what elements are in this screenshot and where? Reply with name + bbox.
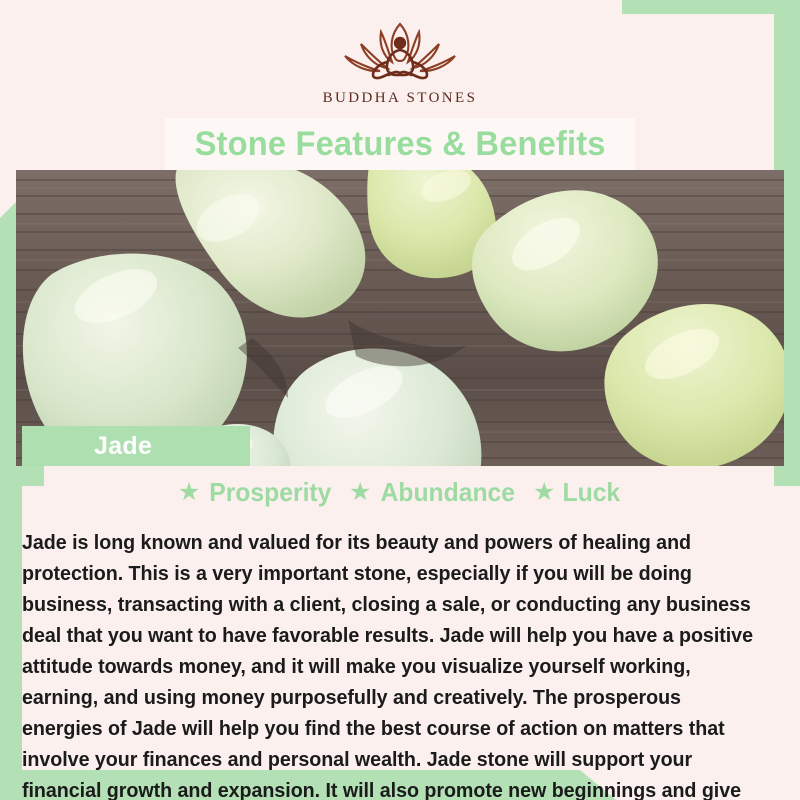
page-title: Stone Features & Benefits (194, 125, 605, 164)
benefit-label: Luck (563, 477, 621, 508)
stone-photo (16, 170, 784, 466)
star-icon: ★ (349, 480, 371, 505)
star-icon: ★ (178, 480, 200, 505)
title-banner: Stone Features & Benefits (165, 118, 635, 170)
benefit-item-luck: ★ Luck (533, 477, 622, 508)
brand-header: BUDDHA STONES (0, 0, 800, 118)
lotus-meditation-icon (325, 18, 475, 88)
jade-stones-image (16, 170, 784, 466)
stone-name: Jade (94, 432, 152, 461)
benefit-item-abundance: ★ Abundance (349, 477, 519, 508)
benefit-label: Abundance (381, 477, 515, 508)
stone-description: Jade is long known and valued for its be… (22, 528, 761, 800)
benefit-label: Prosperity (210, 477, 332, 508)
star-icon: ★ (533, 480, 555, 505)
decoration-left-stripe (0, 466, 22, 800)
benefit-item-prosperity: ★ Prosperity (178, 477, 335, 508)
stone-name-bar: Jade (22, 426, 250, 466)
brand-name: BUDDHA STONES (323, 90, 478, 107)
brand-logo: BUDDHA STONES (323, 18, 478, 107)
benefits-row: ★ Prosperity ★ Abundance ★ Luck (0, 477, 800, 508)
stone-info-card: BUDDHA STONES Stone Features & Benefits (0, 0, 800, 800)
